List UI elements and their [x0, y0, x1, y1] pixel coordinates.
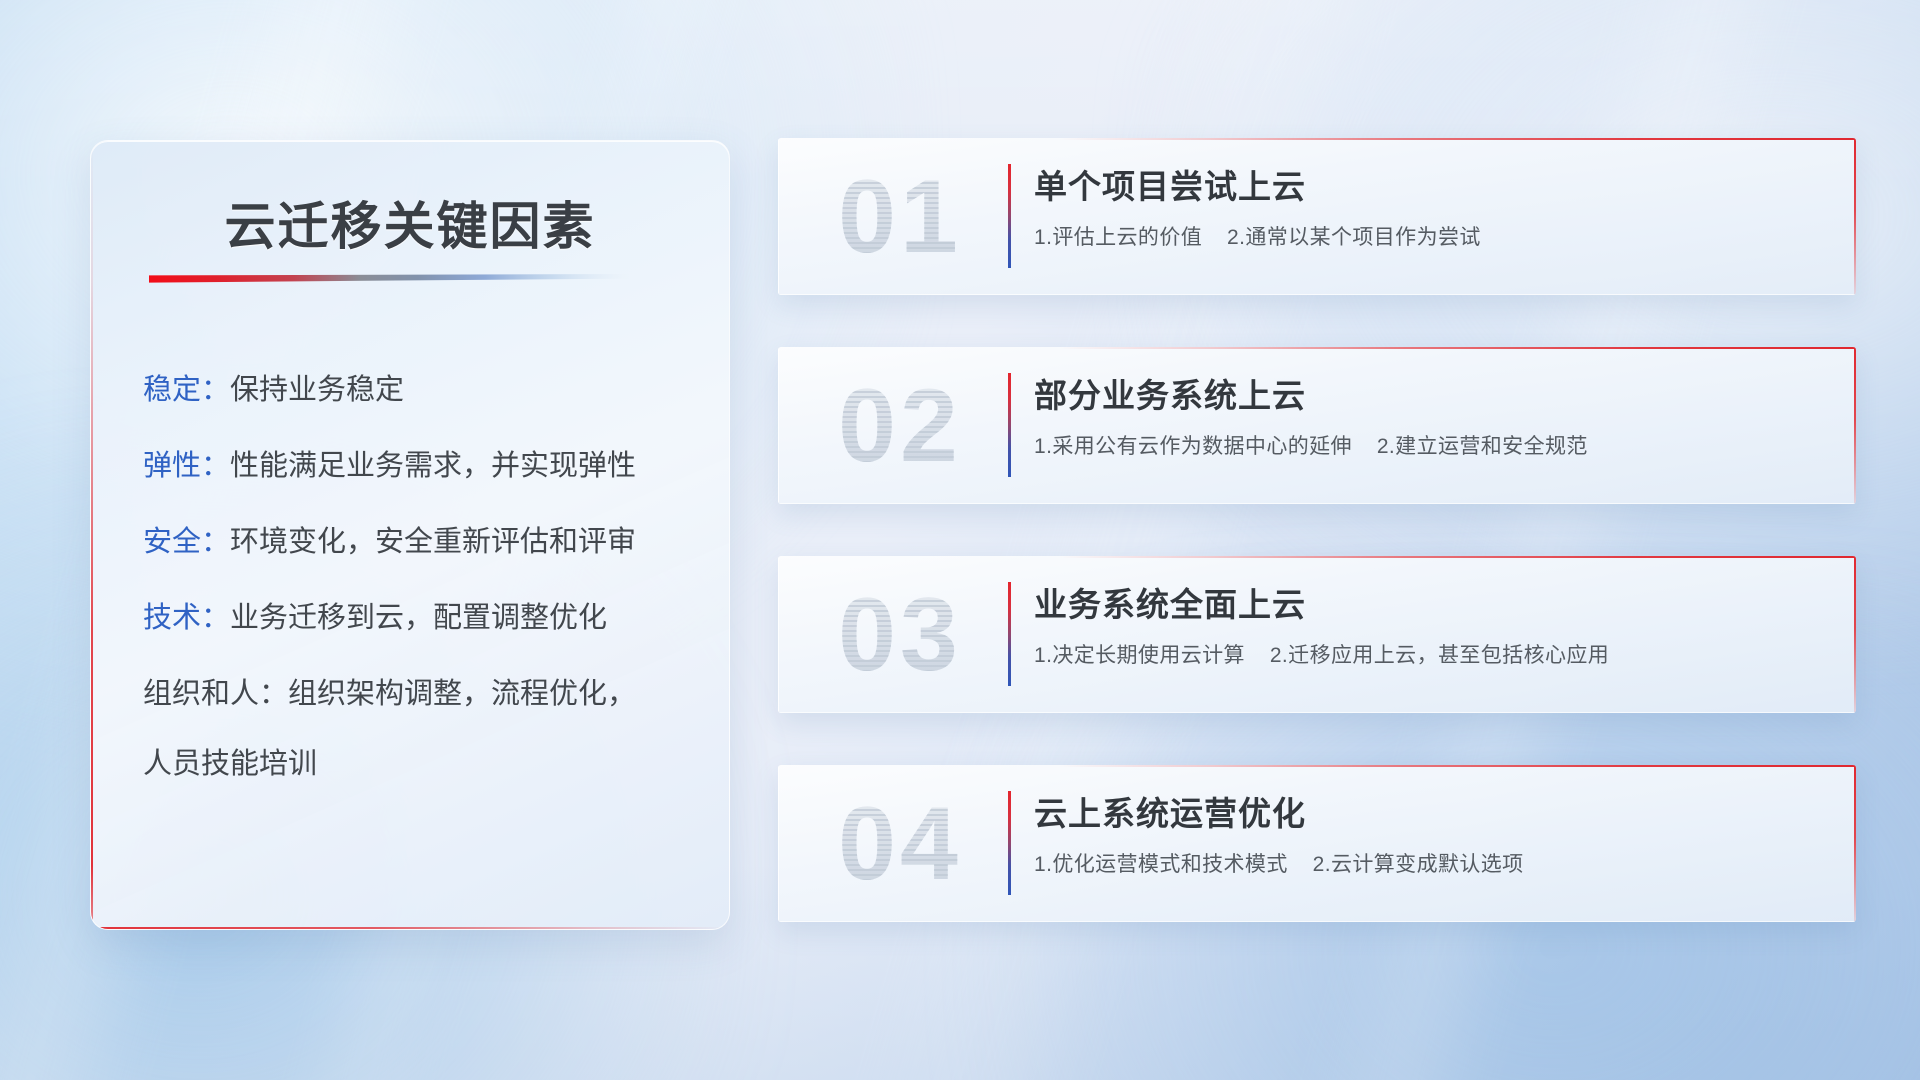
card-top-accent-line: [778, 347, 1856, 349]
stage-title: 单个项目尝试上云: [1034, 160, 1306, 208]
factor-body: 性能满足业务需求，并实现弹性: [230, 450, 636, 482]
factor-label: 安全：: [143, 526, 230, 558]
card-top-accent-line: [778, 556, 1856, 558]
factor-label: 组织和人：: [143, 678, 288, 710]
list-item: 人员技能培训: [143, 750, 693, 779]
stage-number: 01: [800, 142, 1000, 292]
stage-accent-bar: [1008, 373, 1011, 477]
stage-subtitle: 1.评估上云的价值 2.通常以某个项目作为尝试: [1034, 221, 1481, 251]
list-item: 稳定：保持业务稳定: [143, 376, 693, 405]
factor-body: 保持业务稳定: [230, 374, 404, 406]
list-item: 安全：环境变化，安全重新评估和评审: [143, 528, 693, 557]
stage-accent-bar: [1008, 164, 1011, 268]
list-item: 组织和人：组织架构调整，流程优化，: [143, 680, 693, 709]
stage-title: 业务系统全面上云: [1034, 578, 1306, 626]
key-factors-panel: 云迁移关键因素 稳定：保持业务稳定 弹性：性能满足业务需求，并实现弹性 安全：环…: [90, 140, 730, 930]
card-right-accent-line: [1854, 556, 1856, 713]
card-top-accent-line: [778, 765, 1856, 767]
key-factors-list: 稳定：保持业务稳定 弹性：性能满足业务需求，并实现弹性 安全：环境变化，安全重新…: [143, 376, 693, 826]
stage-subtitle: 1.采用公有云作为数据中心的延伸 2.建立运营和安全规范: [1034, 430, 1588, 460]
stage-accent-bar: [1008, 582, 1011, 686]
card-top-accent-line: [778, 138, 1856, 140]
factor-label: 弹性：: [143, 450, 230, 482]
list-item: 技术：业务迁移到云，配置调整优化: [143, 604, 693, 633]
title-underline-rule: [149, 274, 629, 284]
factor-body: 业务迁移到云，配置调整优化: [230, 602, 607, 634]
stage-number: 02: [800, 351, 1000, 501]
stage-card-list: 01 单个项目尝试上云 1.评估上云的价值 2.通常以某个项目作为尝试 02 部…: [778, 138, 1856, 974]
card-right-accent-line: [1854, 765, 1856, 922]
stage-card[interactable]: 01 单个项目尝试上云 1.评估上云的价值 2.通常以某个项目作为尝试: [778, 138, 1856, 295]
stage-number: 04: [800, 769, 1000, 919]
list-item: 弹性：性能满足业务需求，并实现弹性: [143, 452, 693, 481]
factor-body: 环境变化，安全重新评估和评审: [230, 526, 636, 558]
factor-body: 人员技能培训: [143, 748, 317, 780]
page-title: 云迁移关键因素: [91, 185, 729, 259]
stage-title: 部分业务系统上云: [1034, 369, 1306, 417]
stage-card[interactable]: 04 云上系统运营优化 1.优化运营模式和技术模式 2.云计算变成默认选项: [778, 765, 1856, 922]
stage-number: 03: [800, 560, 1000, 710]
card-right-accent-line: [1854, 138, 1856, 295]
factor-label: 稳定：: [143, 374, 230, 406]
stage-subtitle: 1.优化运营模式和技术模式 2.云计算变成默认选项: [1034, 848, 1524, 878]
factor-label: 技术：: [143, 602, 230, 634]
stage-subtitle: 1.决定长期使用云计算 2.迁移应用上云，甚至包括核心应用: [1034, 639, 1609, 669]
stage-accent-bar: [1008, 791, 1011, 895]
factor-body: 组织架构调整，流程优化，: [288, 678, 636, 710]
stage-card[interactable]: 03 业务系统全面上云 1.决定长期使用云计算 2.迁移应用上云，甚至包括核心应…: [778, 556, 1856, 713]
card-right-accent-line: [1854, 347, 1856, 504]
stage-title: 云上系统运营优化: [1034, 787, 1306, 835]
stage-card[interactable]: 02 部分业务系统上云 1.采用公有云作为数据中心的延伸 2.建立运营和安全规范: [778, 347, 1856, 504]
